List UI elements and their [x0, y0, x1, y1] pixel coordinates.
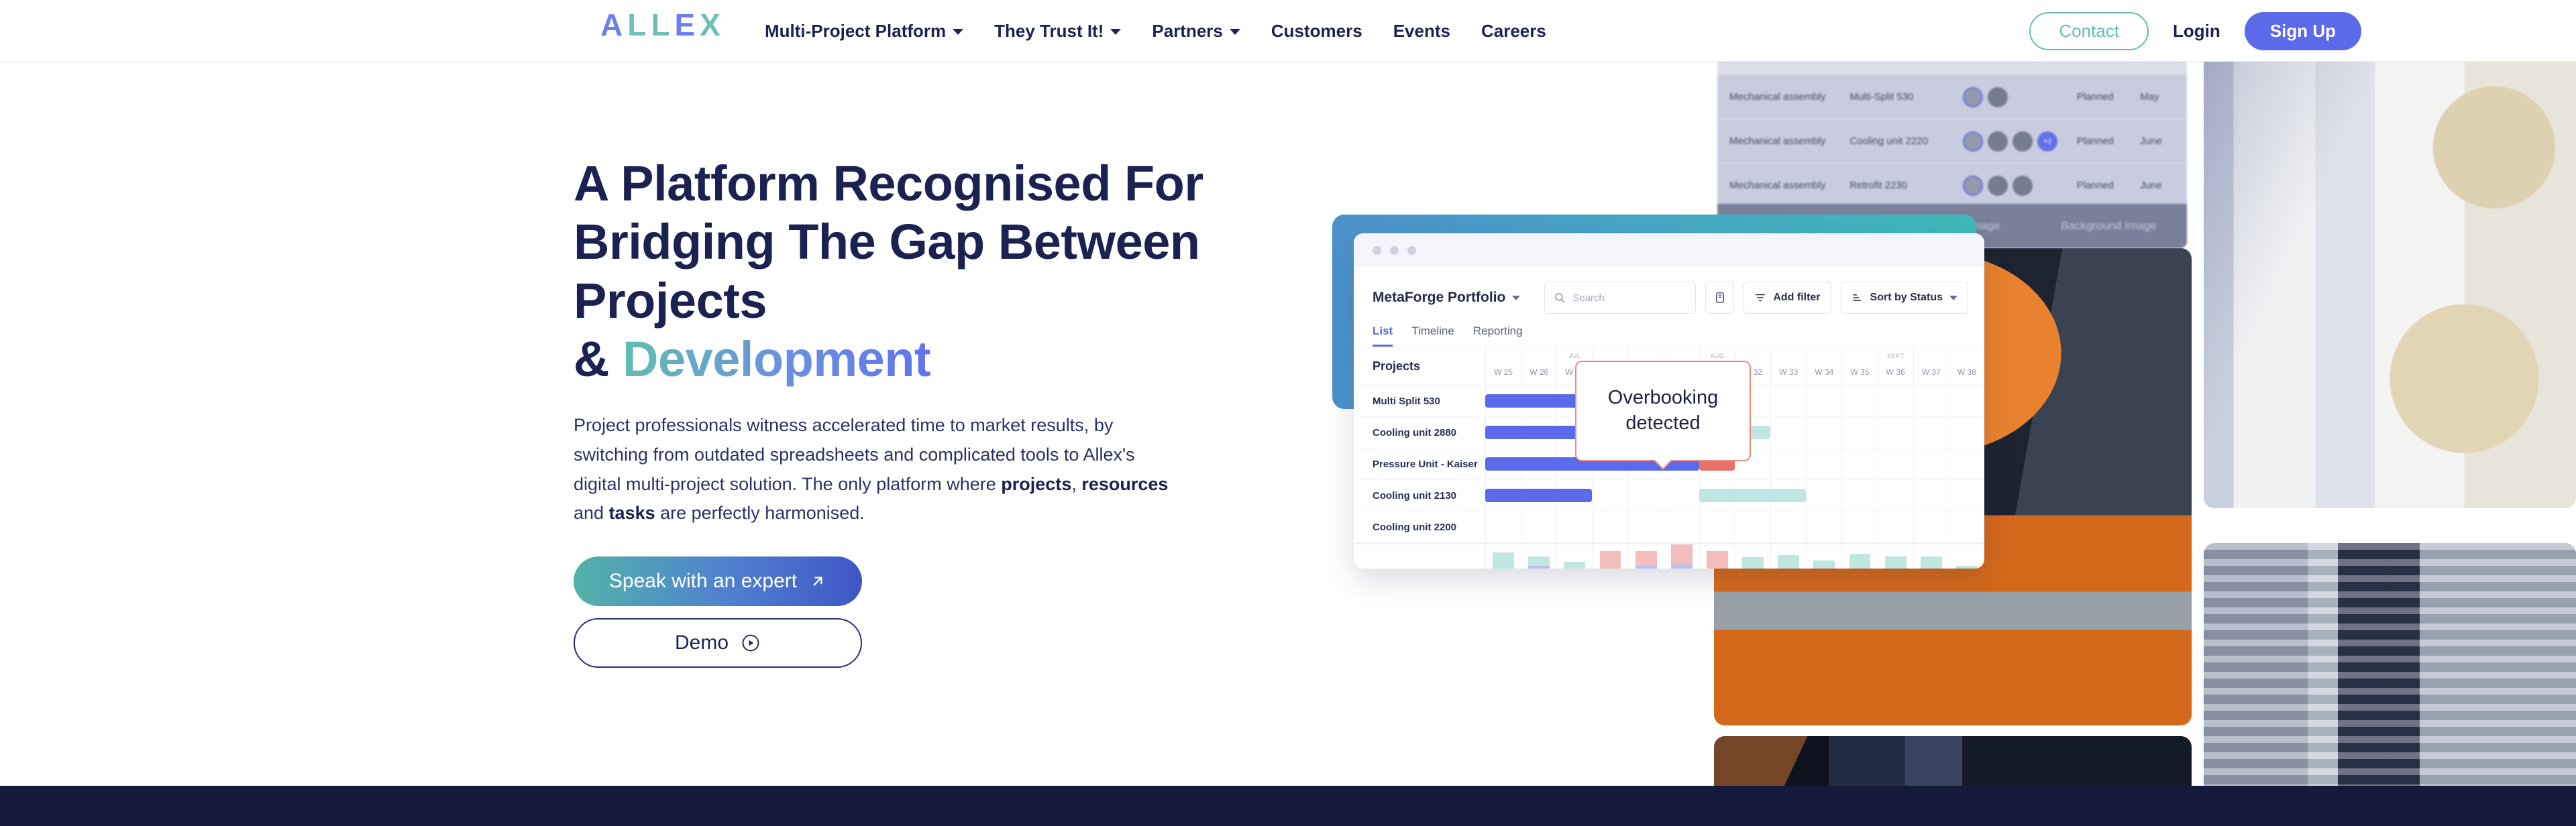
gantt-cell [1913, 386, 1949, 416]
avatar [1963, 87, 1983, 107]
nav-label: Events [1393, 21, 1450, 42]
gantt-week-label: W 36 [1886, 367, 1905, 377]
logo-letter-x: X [700, 9, 725, 40]
avatar [1988, 176, 2008, 196]
tab-list[interactable]: List [1373, 324, 1393, 347]
paragraph-bold-tasks: tasks [609, 503, 655, 523]
row-avatars [1963, 87, 2076, 107]
gantt-week-column: SEPTW 36 [1878, 347, 1913, 385]
row-project: Cooling unit 2220 [1849, 135, 1963, 147]
gantt-bar-buffer[interactable] [1699, 489, 1806, 502]
gantt-cell [1949, 512, 1984, 542]
chart-segment-available [1528, 556, 1550, 566]
hero-paragraph: Project professionals witness accelerate… [574, 411, 1177, 528]
row-avatars [1963, 176, 2076, 196]
chevron-down-icon [1949, 296, 1957, 300]
server-rack-photo [2204, 543, 2576, 826]
chart-stacked-bar[interactable] [1564, 562, 1585, 569]
sign-up-button[interactable]: Sign Up [2245, 12, 2361, 50]
gantt-week-column: W 37 [1913, 347, 1949, 385]
chart-segment-available [1849, 554, 1871, 569]
gantt-row-label: Cooling unit 2880 [1354, 417, 1485, 448]
chart-stacked-bar[interactable] [1600, 551, 1621, 569]
top-navigation-bar: A L L E X Multi-Project Platform They Tr… [0, 0, 2576, 62]
avatar [2012, 131, 2033, 152]
logo-letter-a: A [600, 9, 627, 40]
gantt-cell [1770, 386, 1806, 416]
avatar [2012, 176, 2033, 196]
headline-line-4: & Development [574, 330, 1211, 388]
chart-segment-overbooked [1671, 544, 1693, 565]
paragraph-bold-resources: resources [1081, 474, 1168, 494]
gantt-cell [1664, 512, 1699, 542]
gantt-cell [1913, 449, 1949, 479]
dashboard-window: MetaForge Portfolio Search [1354, 233, 1984, 569]
portfolio-name-label: MetaForge Portfolio [1373, 290, 1505, 306]
chart-column [1913, 544, 1949, 569]
row-date: June [2140, 135, 2187, 147]
headline-gradient-word: Development [623, 331, 930, 387]
gantt-cell [1913, 417, 1949, 448]
row-date: May [2140, 91, 2187, 103]
chart-column [1485, 544, 1521, 569]
row-category: Mechanical assembly [1729, 135, 1849, 147]
avatar [1988, 131, 2008, 152]
logo-letter-l1: L [627, 9, 651, 40]
gantt-row[interactable]: Cooling unit 2130 [1354, 480, 1984, 512]
nav-label: Partners [1152, 21, 1223, 42]
gantt-cell [1485, 512, 1521, 542]
gantt-row-label: Cooling unit 2130 [1354, 480, 1485, 511]
chart-column [1949, 544, 1984, 569]
search-icon [1554, 292, 1566, 304]
chart-stacked-bar[interactable] [1778, 555, 1799, 569]
bookmark-icon [1714, 291, 1726, 304]
chart-stacked-bar[interactable] [1921, 556, 1942, 569]
gantt-cell [1806, 449, 1841, 479]
arrow-up-right-icon [809, 573, 826, 590]
gantt-cell [1878, 480, 1913, 511]
gantt-cell [1913, 480, 1949, 511]
login-button[interactable]: Login [2169, 21, 2224, 42]
gantt-cell [1806, 512, 1841, 542]
chart-segment-booked [1671, 565, 1693, 569]
nav-label: Careers [1481, 21, 1546, 42]
footer-band [0, 786, 2576, 826]
chart-segment-available [1921, 556, 1942, 569]
gantt-month-label: AUG [1700, 353, 1735, 359]
nav-item-partners[interactable]: Partners [1152, 21, 1240, 42]
demo-button[interactable]: Demo [574, 618, 862, 668]
gantt-cell [1770, 512, 1806, 542]
chart-stacked-bar[interactable] [1849, 554, 1871, 569]
logo-letter-e: E [674, 9, 700, 40]
gantt-week-label: W 35 [1850, 367, 1869, 377]
gantt-week-column: W 35 [1841, 347, 1877, 385]
search-placeholder-text: Search [1572, 292, 1605, 304]
chart-stacked-bar[interactable] [1885, 556, 1907, 569]
chart-column [1664, 544, 1699, 569]
window-chrome [1354, 233, 1984, 267]
chart-segment-overbooked [1635, 551, 1657, 566]
tab-timeline[interactable]: Timeline [1411, 324, 1454, 347]
resource-chart-row: Electric Engineer [1354, 543, 1984, 569]
gantt-cell [1878, 449, 1913, 479]
window-close-dot-icon[interactable] [1373, 246, 1381, 255]
gantt-week-label: W 25 [1494, 367, 1513, 377]
resource-chart-label: Electric Engineer [1354, 544, 1485, 569]
gantt-cell [1628, 480, 1664, 511]
chart-segment-booked [1635, 566, 1657, 569]
filter-icon [1754, 292, 1766, 304]
gantt-month-label: JUL [1557, 353, 1592, 359]
gantt-cell [1878, 512, 1913, 542]
chart-stacked-bar[interactable] [1707, 551, 1728, 569]
sort-by-status-label: Sort by Status [1870, 292, 1943, 304]
chart-column [1521, 544, 1556, 569]
nav-item-multi-project-platform[interactable]: Multi-Project Platform [765, 21, 963, 42]
chart-stacked-bar[interactable] [1528, 556, 1550, 569]
nav-item-they-trust-it[interactable]: They Trust It! [994, 21, 1121, 42]
chart-segment-available [1564, 562, 1585, 569]
speak-with-an-expert-button[interactable]: Speak with an expert [574, 556, 862, 606]
play-circle-icon [741, 633, 761, 653]
table-row: Mechanical assembly Cooling unit 2220 +1… [1717, 119, 2187, 164]
gantt-row[interactable]: Cooling unit 2200 [1354, 512, 1984, 543]
gantt-cell [1592, 512, 1627, 542]
sort-by-status-button[interactable]: Sort by Status [1841, 282, 1968, 314]
nav-item-careers[interactable]: Careers [1481, 21, 1546, 42]
chart-column [1699, 544, 1735, 569]
gantt-week-column: W 38 [1949, 347, 1984, 385]
gantt-week-column: W 26 [1521, 347, 1556, 385]
headline-line-1: A Platform Recognised For [574, 154, 1211, 213]
logo-letter-l2: L [651, 9, 674, 40]
gantt-cell [1699, 512, 1735, 542]
gantt-cell [1841, 417, 1877, 448]
hero-page: A L L E X Multi-Project Platform They Tr… [0, 0, 2576, 826]
cta-primary-label: Speak with an expert [609, 570, 797, 593]
tab-reporting[interactable]: Reporting [1473, 324, 1523, 347]
gantt-row-track [1485, 512, 1984, 542]
chart-segment-available [1813, 560, 1835, 569]
tooltip-line-1: Overbooking [1608, 386, 1718, 411]
nav-item-events[interactable]: Events [1393, 21, 1450, 42]
gantt-row-label: Cooling unit 2200 [1354, 512, 1485, 542]
paragraph-sep-1: , [1071, 474, 1081, 494]
chart-column [1770, 544, 1806, 569]
resource-bar-chart [1485, 544, 1984, 569]
row-date: June [2140, 180, 2187, 191]
gantt-cell [1806, 386, 1841, 416]
gantt-row-track [1485, 480, 1984, 511]
gantt-cell [1878, 417, 1913, 448]
tooltip-text: Overbooking detected [1608, 386, 1718, 436]
paragraph-bold-projects: projects [1001, 474, 1071, 494]
chart-column [1556, 544, 1592, 569]
industrial-machine-photo [2204, 46, 2576, 508]
chart-segment-overbooked [1600, 551, 1621, 569]
dashboard-tabs: List Timeline Reporting [1354, 318, 1984, 347]
avatar [1963, 131, 1983, 152]
gantt-header-projects-label: Projects [1354, 347, 1485, 385]
gantt-cell [1949, 480, 1984, 511]
gantt-cell [1592, 480, 1627, 511]
gantt-week-column: W 33 [1770, 347, 1806, 385]
nav-label: They Trust It! [994, 21, 1104, 42]
gantt-cell [1556, 512, 1592, 542]
gantt-cell [1878, 386, 1913, 416]
headline-line-2: Bridging The Gap Between [574, 213, 1211, 271]
gantt-cell [1913, 512, 1949, 542]
chart-column [1735, 544, 1770, 569]
chart-column [1592, 544, 1627, 569]
portfolio-selector[interactable]: MetaForge Portfolio [1373, 290, 1520, 306]
avatar-overflow-count: +1 [2037, 131, 2057, 152]
headline-line-3: Projects [574, 272, 1211, 330]
page-title: A Platform Recognised For Bridging The G… [574, 154, 1211, 388]
row-avatars: +1 [1963, 131, 2076, 152]
paragraph-text-2: are perfectly harmonised. [655, 503, 865, 523]
chart-segment-available [1956, 566, 1978, 569]
search-input[interactable]: Search [1544, 282, 1696, 314]
row-category: Mechanical assembly [1729, 180, 1849, 191]
hero-cta-group: Speak with an expert Demo [574, 556, 862, 668]
chart-column [1628, 544, 1664, 569]
gantt-bar-planned[interactable] [1485, 489, 1592, 502]
add-filter-button[interactable]: Add filter [1743, 282, 1831, 314]
gantt-week-column: W 34 [1806, 347, 1841, 385]
add-filter-label: Add filter [1773, 292, 1820, 304]
paragraph-sep-2: and [574, 503, 609, 523]
gantt-cell [1521, 512, 1556, 542]
chart-segment-available [1778, 555, 1799, 569]
table-row: Mechanical assembly Multi-Split 530 Plan… [1717, 75, 2187, 119]
status-badge: Planned [2077, 180, 2141, 191]
background-image-placeholder: Background Image [2061, 219, 2157, 233]
chart-stacked-bar[interactable] [1493, 552, 1514, 569]
tooltip-line-2: detected [1608, 411, 1718, 436]
contact-button[interactable]: Contact [2029, 12, 2149, 50]
gantt-week-label: W 33 [1779, 367, 1798, 377]
row-project: Retrofit 2230 [1849, 180, 1963, 191]
window-maximize-dot-icon[interactable] [1407, 246, 1416, 255]
chart-segment-overbooked [1707, 551, 1728, 569]
window-minimize-dot-icon[interactable] [1390, 246, 1399, 255]
table-row: Mechanical assembly Retrofit 2230 Planne… [1717, 164, 2187, 208]
chevron-down-icon [953, 29, 963, 35]
gantt-cell [1841, 386, 1877, 416]
bookmark-button[interactable] [1705, 282, 1734, 314]
gantt-week-column: W 25 [1485, 347, 1521, 385]
cta-secondary-label: Demo [675, 632, 729, 654]
gantt-cell [1949, 386, 1984, 416]
gantt-week-label: W 26 [1529, 367, 1548, 377]
nav-label: Customers [1271, 21, 1362, 42]
gantt-cell [1841, 480, 1877, 511]
gantt-cell [1841, 449, 1877, 479]
gantt-cell [1735, 512, 1770, 542]
chart-segment-available [1885, 556, 1907, 569]
gantt-cell [1806, 480, 1841, 511]
gantt-cell [1770, 449, 1806, 479]
primary-nav-links: Multi-Project Platform They Trust It! Pa… [765, 0, 1546, 62]
chart-stacked-bar[interactable] [1813, 560, 1835, 569]
avatar [1963, 176, 1983, 196]
chevron-down-icon [1230, 29, 1240, 35]
gantt-month-label: SEPT [1878, 353, 1913, 359]
gantt-cell [1949, 449, 1984, 479]
gantt-row-label: Pressure Unit - Kaiser [1354, 449, 1485, 479]
chevron-down-icon [1512, 296, 1520, 300]
nav-item-customers[interactable]: Customers [1271, 21, 1362, 42]
chart-column [1806, 544, 1841, 569]
gantt-row-label: Multi Split 530 [1354, 386, 1485, 416]
status-badge: Planned [2077, 91, 2141, 103]
chart-column [1878, 544, 1913, 569]
gantt-week-label: W 34 [1815, 367, 1833, 377]
chart-stacked-bar[interactable] [1635, 551, 1657, 569]
chevron-down-icon [1110, 29, 1121, 35]
chart-segment-booked [1528, 566, 1550, 569]
gantt-cell [1628, 512, 1664, 542]
chart-segment-available [1493, 552, 1514, 569]
sort-icon [1851, 292, 1864, 304]
chart-segment-available [1742, 557, 1764, 569]
chart-column [1841, 544, 1877, 569]
tooltip-pointer-icon [1653, 460, 1673, 470]
chart-stacked-bar[interactable] [1742, 557, 1764, 569]
gantt-cell [1949, 417, 1984, 448]
status-badge: Planned [2077, 135, 2141, 147]
overbooking-tooltip: Overbooking detected [1575, 361, 1751, 461]
gantt-week-label: W 37 [1922, 367, 1941, 377]
row-project: Multi-Split 530 [1849, 91, 1963, 103]
gantt-cell [1806, 417, 1841, 448]
gantt-week-label: W 38 [1957, 367, 1976, 377]
chart-stacked-bar[interactable] [1956, 566, 1978, 569]
dashboard-toolbar: MetaForge Portfolio Search [1354, 267, 1984, 318]
gantt-cell [1770, 417, 1806, 448]
headline-ampersand: & [574, 331, 609, 387]
nav-label: Multi-Project Platform [765, 21, 946, 42]
hero-content: A Platform Recognised For Bridging The G… [574, 154, 1211, 668]
chart-stacked-bar[interactable] [1671, 544, 1693, 569]
allex-logo[interactable]: A L L E X [600, 9, 725, 40]
avatar [1988, 87, 2008, 107]
row-category: Mechanical assembly [1729, 91, 1849, 103]
nav-actions: Contact Login Sign Up [2029, 0, 2361, 62]
gantt-cell [1664, 480, 1699, 511]
gantt-cell [1841, 512, 1877, 542]
